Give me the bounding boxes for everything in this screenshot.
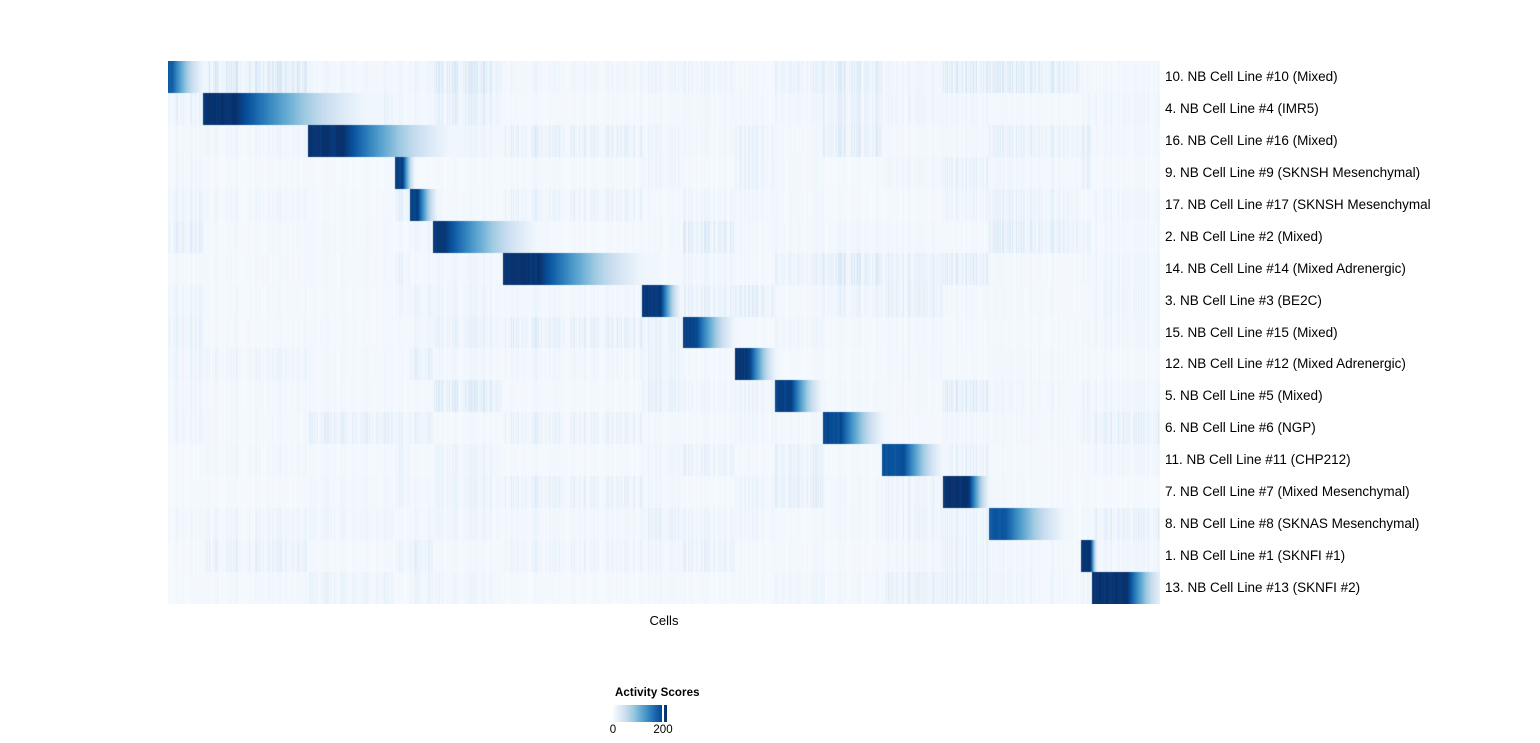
- colorbar-tick-label: 200: [653, 722, 672, 738]
- row-label: 6. NB Cell Line #6 (NGP): [1165, 412, 1316, 444]
- row-label: 12. NB Cell Line #12 (Mixed Adrenergic): [1165, 348, 1406, 380]
- colorbar-legend: Activity Scores 0200: [613, 687, 813, 743]
- colorbar-gradient: [613, 705, 667, 722]
- row-label-list: 10. NB Cell Line #10 (Mixed)4. NB Cell L…: [1165, 61, 1535, 604]
- row-label: 13. NB Cell Line #13 (SKNFI #2): [1165, 572, 1360, 604]
- row-label: 7. NB Cell Line #7 (Mixed Mesenchymal): [1165, 476, 1410, 508]
- heatmap-canvas: [168, 61, 1160, 604]
- row-label: 15. NB Cell Line #15 (Mixed): [1165, 317, 1338, 349]
- colorbar-tick-mark: [662, 705, 664, 722]
- row-label: 8. NB Cell Line #8 (SKNAS Mesenchymal): [1165, 508, 1419, 540]
- row-label: 9. NB Cell Line #9 (SKNSH Mesenchymal): [1165, 157, 1420, 189]
- row-label: 3. NB Cell Line #3 (BE2C): [1165, 285, 1322, 317]
- row-label: 16. NB Cell Line #16 (Mixed): [1165, 125, 1338, 157]
- colorbar-tick-label: 0: [610, 722, 616, 738]
- row-label: 4. NB Cell Line #4 (IMR5): [1165, 93, 1319, 125]
- row-label: 17. NB Cell Line #17 (SKNSH Mesenchymal: [1165, 189, 1431, 221]
- row-label: 5. NB Cell Line #5 (Mixed): [1165, 380, 1323, 412]
- row-label: 14. NB Cell Line #14 (Mixed Adrenergic): [1165, 253, 1406, 285]
- row-label: 1. NB Cell Line #1 (SKNFI #1): [1165, 540, 1345, 572]
- heatmap-figure: GEPs Cells 10. NB Cell Line #10 (Mixed)4…: [0, 0, 1540, 743]
- colorbar-title: Activity Scores: [615, 687, 700, 699]
- row-label: 2. NB Cell Line #2 (Mixed): [1165, 221, 1323, 253]
- row-label: 10. NB Cell Line #10 (Mixed): [1165, 61, 1338, 93]
- x-axis-label: Cells: [168, 611, 1160, 631]
- heatmap-panel: [168, 61, 1160, 604]
- row-label: 11. NB Cell Line #11 (CHP212): [1165, 444, 1351, 476]
- colorbar-tick-labels: 0200: [613, 722, 733, 738]
- colorbar-gradient-wrap: [613, 705, 667, 722]
